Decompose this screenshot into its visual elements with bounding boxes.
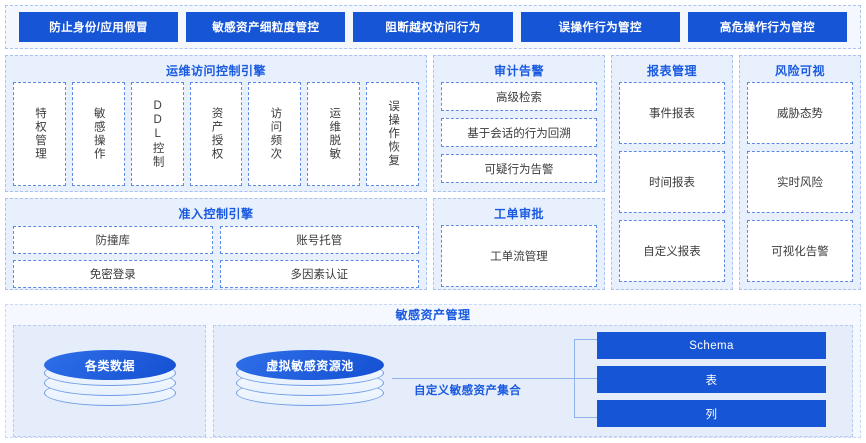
top-capability-banner: 防止身份/应用假冒 敏感资产细粒度管控 阻断越权访问行为 误操作行为管控 高危操… xyxy=(5,5,861,49)
report-card-stack: 事件报表 时间报表 自定义报表 xyxy=(619,82,725,282)
risk-card-threat-situation[interactable]: 威胁态势 xyxy=(747,82,853,144)
panel-title-admission-engine: 准入控制引擎 xyxy=(13,205,419,225)
sensitive-asset-body: 各类数据 虚拟敏感资源池 自定义敏感资产集合 Sch xyxy=(6,325,860,437)
asset-level-bars: Schema 表 列 xyxy=(597,332,826,427)
ops-card-sensitive-operation[interactable]: 敏感操作 xyxy=(72,82,125,186)
panel-title-report-management: 报表管理 xyxy=(619,62,725,82)
admission-card-mfa[interactable]: 多因素认证 xyxy=(220,260,420,288)
ops-engine-card-row: 特权管理 敏感操作 DDL控制 资产授权 访问频次 运维脱敏 误操作恢复 xyxy=(13,82,419,186)
asset-bar-schema[interactable]: Schema xyxy=(597,332,826,359)
audit-card-stack: 高级检索 基于会话的行为回溯 可疑行为告警 xyxy=(441,82,597,183)
ops-card-misoperation-recovery[interactable]: 误操作恢复 xyxy=(366,82,419,186)
panel-audit-alert: 审计告警 高级检索 基于会话的行为回溯 可疑行为告警 xyxy=(433,55,605,192)
asset-bar-table[interactable]: 表 xyxy=(597,366,826,393)
admission-card-anti-credential-stuffing[interactable]: 防撞库 xyxy=(13,226,213,254)
report-card-custom-report[interactable]: 自定义报表 xyxy=(619,220,725,282)
panel-title-audit-alert: 审计告警 xyxy=(441,62,597,82)
work-order-card-workflow-management[interactable]: 工单流管理 xyxy=(441,225,597,287)
audit-card-advanced-search[interactable]: 高级检索 xyxy=(441,82,597,111)
panel-report-management: 报表管理 事件报表 时间报表 自定义报表 xyxy=(611,55,733,290)
capability-pill-5[interactable]: 高危操作行为管控 xyxy=(689,13,846,41)
database-cylinder-icon-all-data[interactable]: 各类数据 xyxy=(44,350,176,412)
bracket-arm-bottom xyxy=(575,417,597,418)
bracket-connector xyxy=(574,339,596,418)
capability-pill-3[interactable]: 阻断越权访问行为 xyxy=(354,13,511,41)
asset-bar-column[interactable]: 列 xyxy=(597,400,826,427)
data-sources-box: 各类数据 xyxy=(13,325,206,437)
architecture-diagram: 防止身份/应用假冒 敏感资产细粒度管控 阻断越权访问行为 误操作行为管控 高危操… xyxy=(0,0,866,443)
ops-card-asset-authorization[interactable]: 资产授权 xyxy=(190,82,243,186)
capability-pill-2[interactable]: 敏感资产细粒度管控 xyxy=(187,13,344,41)
bracket-arm-middle xyxy=(575,378,597,379)
risk-card-realtime-risk[interactable]: 实时风险 xyxy=(747,151,853,213)
panel-title-work-order: 工单审批 xyxy=(441,205,597,225)
risk-card-stack: 威胁态势 实时风险 可视化告警 xyxy=(747,82,853,282)
report-card-event-report[interactable]: 事件报表 xyxy=(619,82,725,144)
capability-pill-1[interactable]: 防止身份/应用假冒 xyxy=(20,13,177,41)
ops-card-privilege-management[interactable]: 特权管理 xyxy=(13,82,66,186)
risk-card-visual-alert[interactable]: 可视化告警 xyxy=(747,220,853,282)
panel-work-order-approval: 工单审批 工单流管理 xyxy=(433,198,605,290)
panel-ops-access-control-engine: 运维访问控制引擎 特权管理 敏感操作 DDL控制 资产授权 访问频次 运维脱敏 … xyxy=(5,55,427,192)
admission-card-account-custody[interactable]: 账号托管 xyxy=(220,226,420,254)
panel-sensitive-asset-management: 敏感资产管理 各类数据 虚拟敏感资源池 自定义敏感资产集合 xyxy=(5,304,861,438)
audit-card-session-behavior-replay[interactable]: 基于会话的行为回溯 xyxy=(441,118,597,147)
panel-title-sensitive-asset-management: 敏感资产管理 xyxy=(6,305,860,325)
capability-pill-4[interactable]: 误操作行为管控 xyxy=(522,13,679,41)
cylinder-label-all-data: 各类数据 xyxy=(44,350,176,380)
panel-title-ops-engine: 运维访问控制引擎 xyxy=(13,62,419,82)
ops-card-ops-masking[interactable]: 运维脱敏 xyxy=(307,82,360,186)
connector-label-custom-asset-set: 自定义敏感资产集合 xyxy=(414,382,521,398)
connector-line xyxy=(392,378,597,379)
report-card-time-report[interactable]: 时间报表 xyxy=(619,151,725,213)
middle-region: 运维访问控制引擎 特权管理 敏感操作 DDL控制 资产授权 访问频次 运维脱敏 … xyxy=(5,55,861,298)
database-cylinder-icon-resource-pool[interactable]: 虚拟敏感资源池 xyxy=(236,350,384,412)
cylinder-label-resource-pool: 虚拟敏感资源池 xyxy=(236,350,384,380)
audit-card-suspicious-behavior-alert[interactable]: 可疑行为告警 xyxy=(441,154,597,183)
virtual-sensitive-resource-pool-box: 虚拟敏感资源池 自定义敏感资产集合 Schema 表 列 xyxy=(213,325,853,437)
admission-card-grid: 防撞库 账号托管 免密登录 多因素认证 xyxy=(13,226,419,288)
panel-title-risk-visibility: 风险可视 xyxy=(747,62,853,82)
bracket-arm-top xyxy=(575,339,597,340)
panel-admission-control-engine: 准入控制引擎 防撞库 账号托管 免密登录 多因素认证 xyxy=(5,198,427,290)
admission-card-passwordless-login[interactable]: 免密登录 xyxy=(13,260,213,288)
ops-card-access-frequency[interactable]: 访问频次 xyxy=(248,82,301,186)
panel-risk-visibility: 风险可视 威胁态势 实时风险 可视化告警 xyxy=(739,55,861,290)
ops-card-ddl-control[interactable]: DDL控制 xyxy=(131,82,184,186)
